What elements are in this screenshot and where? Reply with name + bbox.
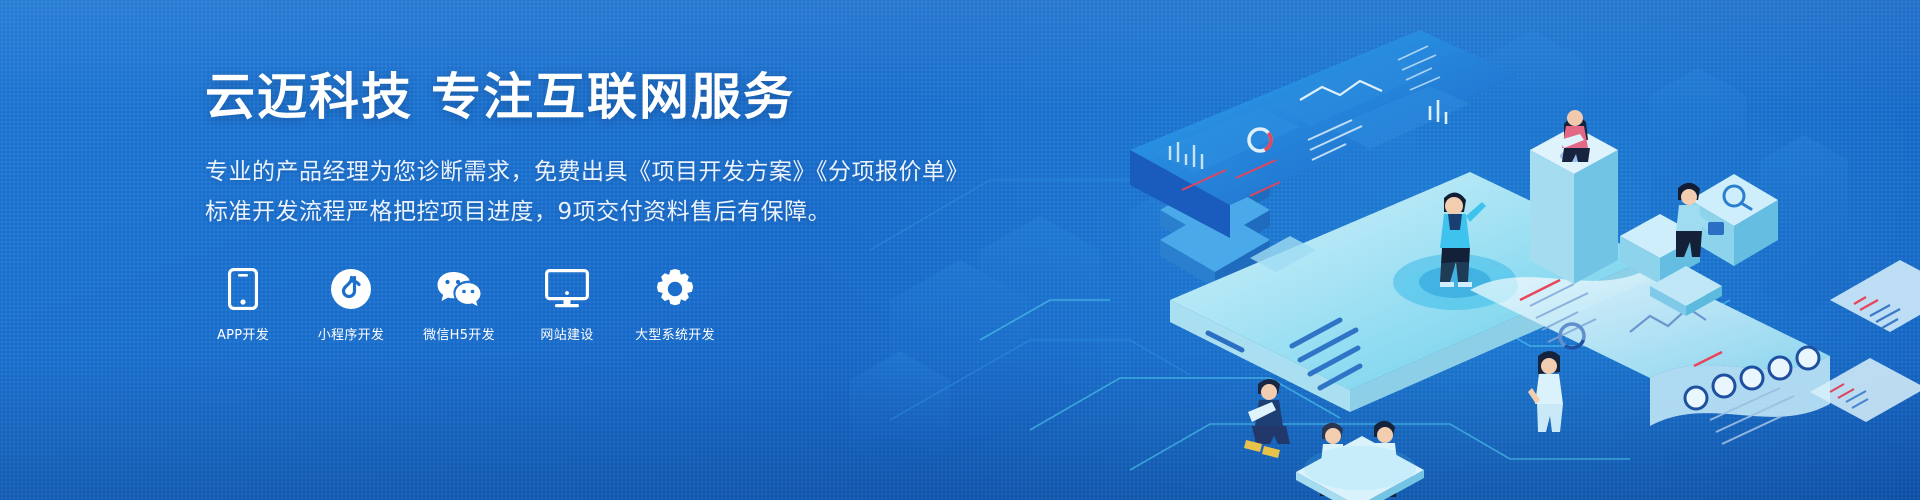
wechat-icon <box>436 266 482 312</box>
gear-icon <box>652 266 698 312</box>
banner-copy: 云迈科技专注互联网服务 专业的产品经理为您诊断需求，免费出具《项目开发方案》《分… <box>205 68 925 343</box>
subtitle-line-2: 标准开发流程严格把控项目进度，9项交付资料售后有保障。 <box>205 193 925 233</box>
person-sitting-laptop <box>1244 379 1290 458</box>
service-label: 微信H5开发 <box>423 324 495 343</box>
mini-program-icon <box>328 266 374 312</box>
service-item-mini-program[interactable]: 小程序开发 <box>313 266 389 343</box>
service-label: 小程序开发 <box>318 324 385 343</box>
service-label: 网站建设 <box>540 324 593 343</box>
service-label: APP开发 <box>217 324 269 343</box>
monitor-icon <box>544 266 590 312</box>
service-item-large-system[interactable]: 大型系统开发 <box>637 266 713 343</box>
headline-tagline: 专注互联网服务 <box>431 68 795 126</box>
mobile-phone-icon <box>220 266 266 312</box>
service-item-website[interactable]: 网站建设 <box>529 266 605 343</box>
promo-banner: 云迈科技专注互联网服务 专业的产品经理为您诊断需求，免费出具《项目开发方案》《分… <box>0 0 1920 500</box>
service-list: APP开发 小程序开发 <box>205 266 925 343</box>
service-item-app[interactable]: APP开发 <box>205 266 281 343</box>
hero-illustration <box>830 0 1920 500</box>
page-title: 云迈科技专注互联网服务 <box>205 68 925 127</box>
subtitle-line-1: 专业的产品经理为您诊断需求，免费出具《项目开发方案》《分项报价单》 <box>205 153 925 193</box>
service-item-wechat-h5[interactable]: 微信H5开发 <box>421 266 497 343</box>
subtitle-block: 专业的产品经理为您诊断需求，免费出具《项目开发方案》《分项报价单》 标准开发流程… <box>205 153 925 232</box>
service-label: 大型系统开发 <box>635 324 715 343</box>
headline-brand: 云迈科技 <box>205 68 413 126</box>
person-woman-standing <box>1528 351 1563 432</box>
